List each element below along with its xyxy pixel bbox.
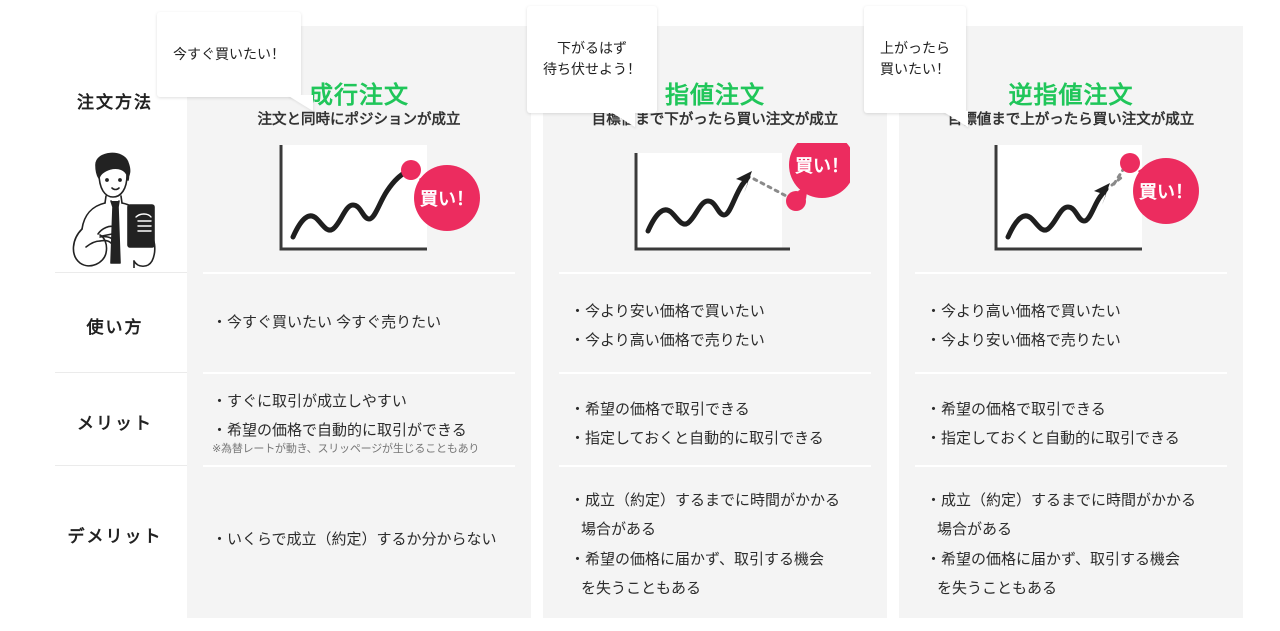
list-item-continuation: を失うこともある: [570, 574, 840, 603]
row-divider-3-label: [55, 465, 187, 466]
row-divider-1-label: [55, 272, 187, 273]
bubble-tail-icon: [942, 111, 968, 127]
row-divider-1-col3: [915, 272, 1227, 274]
bubble-tail-icon: [287, 95, 313, 111]
list-item: ・成立（約定）するまでに時間がかかる: [926, 486, 1196, 515]
list-item: ・希望の価格に届かず、取引する機会: [570, 545, 840, 574]
list-item: ・今より高い価格で買いたい: [926, 297, 1121, 326]
list-item: ・今より安い価格で売りたい: [926, 326, 1121, 355]
cell-merit-market: ・すぐに取引が成立しやすい ・希望の価格で自動的に取引ができる ※為替レートが動…: [212, 387, 479, 456]
row-divider-3-col1: [203, 465, 515, 467]
bubble-tail-icon: [609, 111, 635, 127]
list-item: ・希望の価格で取引できる: [926, 395, 1180, 424]
badge-text-limit: 買い！: [795, 156, 849, 176]
list-item: ・希望の価格で取引できる: [570, 395, 824, 424]
chart-illustration-stop-order: 買い！: [990, 143, 1210, 258]
speech-bubble-limit-text: 下がるはず 待ち伏せよう！: [543, 40, 641, 78]
row-divider-2-col2: [559, 372, 871, 374]
comparison-table-page: 今すぐ買いたい！ 下がるはず 待ち伏せよう！ 上がったら 買いたい！ 注文方法 …: [0, 0, 1280, 631]
speech-bubble-stop-text: 上がったら 買いたい！: [880, 40, 950, 78]
row-divider-2-col1: [203, 372, 515, 374]
list-item-continuation: 場合がある: [926, 515, 1196, 544]
chart-illustration-market-order: 買い！: [275, 143, 495, 258]
row-divider-3-col3: [915, 465, 1227, 467]
row-divider-1-col2: [559, 272, 871, 274]
speech-bubble-limit: 下がるはず 待ち伏せよう！: [527, 6, 657, 113]
speech-bubble-market: 今すぐ買いたい！: [157, 12, 301, 97]
list-item: ・希望の価格に届かず、取引する機会: [926, 545, 1196, 574]
row-divider-2-col3: [915, 372, 1227, 374]
list-item: ・すぐに取引が成立しやすい: [212, 387, 479, 416]
cell-usage-limit: ・今より安い価格で買いたい ・今より高い価格で売りたい: [570, 297, 765, 356]
list-item: ・指定しておくと自動的に取引できる: [570, 424, 824, 453]
row-divider-2-label: [55, 372, 187, 373]
cell-demerit-limit: ・成立（約定）するまでに時間がかかる 場合がある ・希望の価格に届かず、取引する…: [570, 486, 840, 603]
list-item: ・指定しておくと自動的に取引できる: [926, 424, 1180, 453]
cell-demerit-stop: ・成立（約定）するまでに時間がかかる 場合がある ・希望の価格に届かず、取引する…: [926, 486, 1196, 603]
column-subtitle-market-order: 注文と同時にポジションが成立: [187, 108, 531, 129]
speech-bubble-market-text: 今すぐ買いたい！: [173, 46, 285, 62]
cell-merit-stop: ・希望の価格で取引できる ・指定しておくと自動的に取引できる: [926, 395, 1180, 454]
list-item-continuation: 場合がある: [570, 515, 840, 544]
badge-text-stop: 買い！: [1139, 182, 1193, 202]
list-item: ・今より安い価格で買いたい: [570, 297, 765, 326]
badge-text-market: 買い！: [420, 189, 474, 209]
list-item: ・成立（約定）するまでに時間がかかる: [570, 486, 840, 515]
cell-merit-limit: ・希望の価格で取引できる ・指定しておくと自動的に取引できる: [570, 395, 824, 454]
footnote-slippage: ※為替レートが動き、スリッページが生じることもあり: [212, 442, 479, 456]
row-label-merit: メリット: [40, 409, 190, 434]
row-divider-3-col2: [559, 465, 871, 467]
list-item: ・いくらで成立（約定）するか分からない: [212, 531, 497, 548]
chart-illustration-limit-order: 買い！: [630, 143, 850, 258]
cell-usage-stop: ・今より高い価格で買いたい ・今より安い価格で売りたい: [926, 297, 1121, 356]
list-item-continuation: を失うこともある: [926, 574, 1196, 603]
cell-demerit-market: ・いくらで成立（約定）するか分からない: [212, 525, 497, 554]
row-divider-1-col1: [203, 272, 515, 274]
list-item: ・今より高い価格で売りたい: [570, 326, 765, 355]
row-label-usage: 使い方: [40, 313, 190, 338]
person-with-smartphone-illustration: [58, 143, 178, 268]
list-item: ・今すぐ買いたい 今すぐ売りたい: [212, 314, 441, 331]
speech-bubble-stop: 上がったら 買いたい！: [864, 6, 966, 113]
cell-usage-market: ・今すぐ買いたい 今すぐ売りたい: [212, 308, 441, 337]
row-label-demerit: デメリット: [40, 522, 190, 547]
